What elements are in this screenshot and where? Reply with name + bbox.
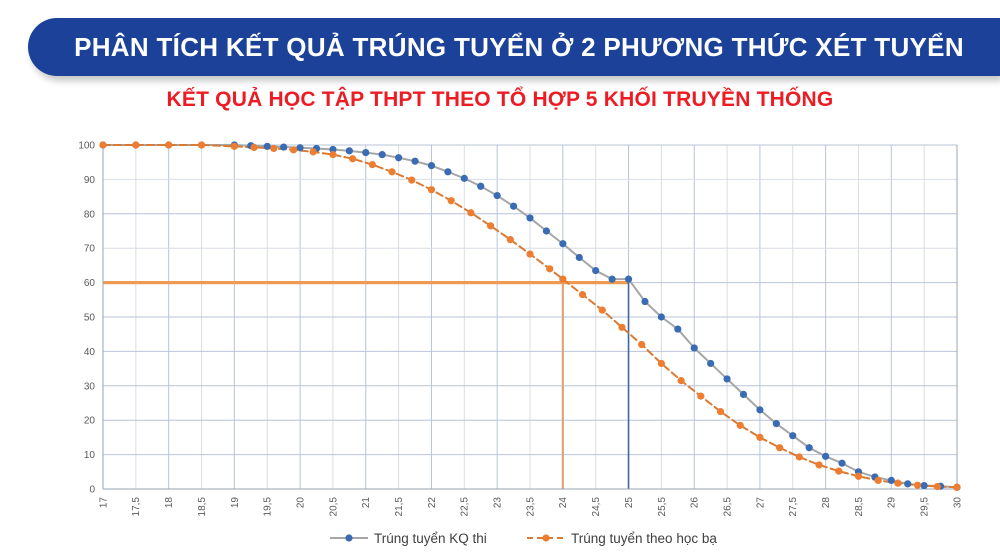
data-point-kq-thi — [822, 453, 829, 460]
data-point-hoc-ba — [198, 141, 205, 148]
y-tick-label: 80 — [84, 209, 96, 220]
data-point-kq-thi — [264, 143, 271, 150]
data-point-hoc-ba — [290, 146, 297, 153]
y-axis-tick-labels: 0102030405060708090100 — [78, 141, 95, 496]
data-point-hoc-ba — [165, 141, 172, 148]
y-tick-label: 100 — [78, 141, 95, 152]
x-axis-tick-labels: 1717,51818,51919,52020,52121,52222,52323… — [98, 497, 963, 517]
data-point-hoc-ba — [231, 143, 238, 150]
data-point-kq-thi — [740, 391, 747, 398]
data-point-hoc-ba — [526, 250, 533, 257]
data-point-hoc-ba — [559, 276, 566, 283]
x-tick-label: 26,5 — [722, 497, 733, 517]
data-point-kq-thi — [543, 227, 550, 234]
data-point-kq-thi — [346, 147, 353, 154]
x-tick-label: 18 — [164, 497, 175, 509]
data-point-hoc-ba — [487, 222, 494, 229]
y-tick-label: 70 — [84, 244, 96, 255]
data-point-hoc-ba — [546, 265, 553, 272]
data-point-hoc-ba — [756, 434, 763, 441]
data-point-hoc-ba — [270, 145, 277, 152]
data-point-kq-thi — [609, 276, 616, 283]
data-point-hoc-ba — [638, 341, 645, 348]
data-point-kq-thi — [428, 162, 435, 169]
x-tick-label: 17,5 — [131, 497, 142, 517]
data-point-hoc-ba — [934, 483, 941, 490]
x-tick-label: 30 — [952, 497, 963, 509]
x-tick-label: 23,5 — [525, 497, 536, 517]
data-point-hoc-ba — [507, 236, 514, 243]
data-point-kq-thi — [773, 420, 780, 427]
data-point-kq-thi — [477, 183, 484, 190]
data-point-kq-thi — [559, 240, 566, 247]
data-point-kq-thi — [707, 360, 714, 367]
data-point-kq-thi — [723, 375, 730, 382]
y-tick-label: 30 — [84, 381, 96, 392]
data-point-kq-thi — [494, 192, 501, 199]
data-point-hoc-ba — [132, 141, 139, 148]
x-tick-label: 24 — [558, 497, 569, 509]
data-point-hoc-ba — [99, 141, 106, 148]
x-tick-label: 23 — [493, 497, 504, 509]
data-point-hoc-ba — [310, 148, 317, 155]
x-tick-label: 24,5 — [591, 497, 602, 517]
legend-label-0: Trúng tuyển KQ thi — [374, 531, 487, 546]
chart-subtitle: KẾT QUẢ HỌC TẬP THPT THEO TỔ HỢP 5 KHỐI … — [0, 88, 1000, 112]
x-tick-label: 19 — [230, 497, 241, 509]
data-point-kq-thi — [904, 480, 911, 487]
x-tick-label: 25 — [624, 497, 635, 509]
x-tick-label: 18,5 — [197, 497, 208, 517]
data-point-hoc-ba — [448, 197, 455, 204]
data-point-hoc-ba — [599, 307, 606, 314]
line-chart: 0102030405060708090100 1717,51818,51919,… — [0, 130, 1000, 554]
data-point-hoc-ba — [855, 473, 862, 480]
x-tick-label: 20,5 — [328, 497, 339, 517]
data-point-hoc-ba — [579, 291, 586, 298]
y-tick-label: 90 — [84, 175, 96, 186]
data-point-kq-thi — [461, 175, 468, 182]
data-point-hoc-ba — [388, 168, 395, 175]
header-banner: PHÂN TÍCH KẾT QUẢ TRÚNG TUYỂN Ở 2 PHƯƠNG… — [28, 18, 1000, 76]
y-tick-label: 50 — [84, 313, 96, 324]
data-point-hoc-ba — [697, 393, 704, 400]
data-point-kq-thi — [806, 444, 813, 451]
data-point-hoc-ba — [250, 144, 257, 151]
data-point-kq-thi — [280, 143, 287, 150]
x-tick-label: 19,5 — [263, 497, 274, 517]
data-point-hoc-ba — [953, 484, 960, 491]
data-point-hoc-ba — [914, 482, 921, 489]
data-point-kq-thi — [395, 154, 402, 161]
data-point-hoc-ba — [677, 377, 684, 384]
x-tick-label: 29 — [887, 497, 898, 509]
data-point-hoc-ba — [835, 468, 842, 475]
data-point-hoc-ba — [796, 453, 803, 460]
chart-container: 0102030405060708090100 1717,51818,51919,… — [0, 130, 1000, 554]
legend-marker-1 — [542, 534, 549, 541]
data-point-hoc-ba — [875, 477, 882, 484]
x-tick-label: 21,5 — [394, 497, 405, 517]
data-point-kq-thi — [576, 254, 583, 261]
data-point-kq-thi — [888, 477, 895, 484]
data-point-hoc-ba — [894, 480, 901, 487]
data-point-kq-thi — [362, 149, 369, 156]
x-tick-label: 28 — [821, 497, 832, 509]
x-tick-label: 26 — [690, 497, 701, 509]
data-point-kq-thi — [641, 298, 648, 305]
data-point-kq-thi — [691, 344, 698, 351]
data-point-hoc-ba — [428, 186, 435, 193]
chart-legend: Trúng tuyển KQ thiTrúng tuyển theo học b… — [330, 531, 717, 546]
legend-label-1: Trúng tuyển theo học bạ — [571, 531, 717, 546]
x-tick-label: 22 — [427, 497, 438, 509]
data-point-hoc-ba — [618, 324, 625, 331]
data-point-hoc-ba — [815, 461, 822, 468]
data-point-kq-thi — [444, 168, 451, 175]
data-point-kq-thi — [526, 214, 533, 221]
data-point-kq-thi — [510, 203, 517, 210]
data-point-kq-thi — [592, 267, 599, 274]
data-point-kq-thi — [658, 313, 665, 320]
data-point-hoc-ba — [658, 360, 665, 367]
data-point-kq-thi — [379, 151, 386, 158]
x-tick-label: 29,5 — [920, 497, 931, 517]
data-point-hoc-ba — [408, 176, 415, 183]
x-tick-label: 21 — [361, 497, 372, 509]
data-point-kq-thi — [756, 406, 763, 413]
x-tick-label: 17 — [98, 497, 109, 509]
x-tick-label: 27 — [755, 497, 766, 509]
x-tick-label: 25,5 — [657, 497, 668, 517]
data-point-hoc-ba — [776, 444, 783, 451]
data-point-kq-thi — [625, 276, 632, 283]
x-tick-label: 22,5 — [460, 497, 471, 517]
legend-marker-0 — [345, 534, 352, 541]
data-point-hoc-ba — [369, 161, 376, 168]
x-tick-label: 20 — [295, 497, 306, 509]
data-point-hoc-ba — [329, 151, 336, 158]
data-point-kq-thi — [789, 432, 796, 439]
x-tick-label: 27,5 — [788, 497, 799, 517]
x-tick-label: 28,5 — [854, 497, 865, 517]
data-point-hoc-ba — [717, 408, 724, 415]
y-tick-label: 40 — [84, 347, 96, 358]
y-tick-label: 0 — [89, 485, 95, 496]
data-point-hoc-ba — [349, 155, 356, 162]
data-point-kq-thi — [411, 158, 418, 165]
data-point-kq-thi — [921, 482, 928, 489]
data-point-hoc-ba — [737, 422, 744, 429]
data-point-kq-thi — [674, 325, 681, 332]
data-point-hoc-ba — [467, 209, 474, 216]
y-tick-label: 60 — [84, 278, 96, 289]
y-tick-label: 20 — [84, 416, 96, 427]
data-point-kq-thi — [838, 460, 845, 467]
y-tick-label: 10 — [84, 450, 96, 461]
page-title: PHÂN TÍCH KẾT QUẢ TRÚNG TUYỂN Ở 2 PHƯƠNG… — [64, 32, 964, 63]
data-point-kq-thi — [296, 144, 303, 151]
